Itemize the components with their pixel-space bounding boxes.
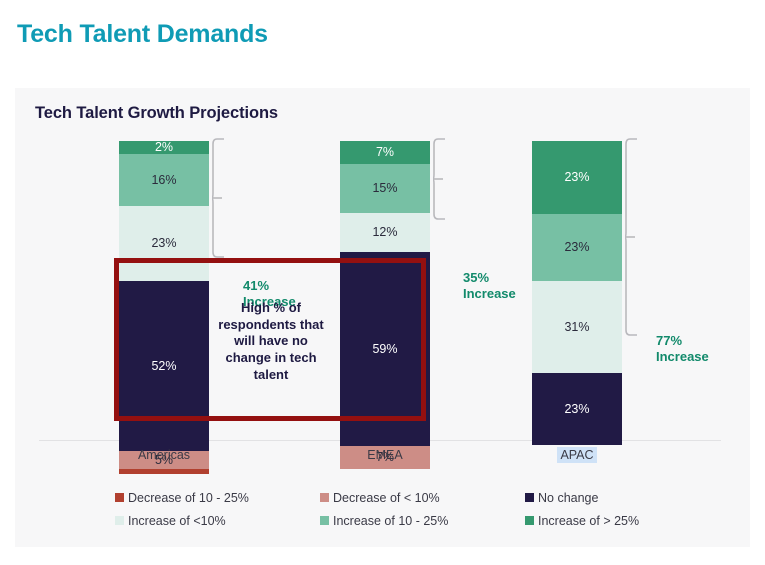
legend-label: Increase of > 25% <box>538 514 639 528</box>
annotation-apac: 77% Increase <box>656 333 709 365</box>
annotation-apac-value: 77% <box>656 333 682 348</box>
page-title: Tech Talent Demands <box>17 20 268 49</box>
bar-segment-label: 59% <box>372 343 397 356</box>
bar-segment-label: 31% <box>564 321 589 334</box>
legend-label: Increase of 10 - 25% <box>333 514 448 528</box>
annotation-apac-word: Increase <box>656 349 709 364</box>
bar-segment-label: 23% <box>564 171 589 184</box>
bar-segment-apac-no-change[interactable]: 23% <box>532 373 622 445</box>
bar-segment-label: 52% <box>151 360 176 373</box>
legend-swatch-icon <box>320 493 329 502</box>
bar-segment-americas-increase-lt-10[interactable]: 23% <box>119 206 209 281</box>
legend: Decrease of 10 - 25%Decrease of < 10%No … <box>115 486 675 532</box>
legend-swatch-icon <box>115 493 124 502</box>
legend-item[interactable]: Increase of 10 - 25% <box>320 514 525 528</box>
bar-segment-americas-decrease-10-25[interactable] <box>119 469 209 474</box>
legend-swatch-icon <box>320 516 329 525</box>
bar-segment-americas-increase-10-25[interactable]: 16% <box>119 154 209 206</box>
bar-segment-americas-increase-gt-25[interactable]: 2% <box>119 141 209 154</box>
bar-segment-label: 23% <box>564 241 589 254</box>
legend-item[interactable]: Decrease of 10 - 25% <box>115 491 320 505</box>
category-label-americas-text: Americas <box>138 448 190 462</box>
bar-segment-label: 12% <box>372 226 397 239</box>
callout-text: High % of respondents that will have no … <box>211 300 331 383</box>
bar-segment-label: 7% <box>376 146 394 159</box>
bar-segment-label: 23% <box>564 403 589 416</box>
bracket-emea <box>433 138 455 220</box>
annotation-americas-value: 41% <box>243 278 269 293</box>
chart-card: Tech Talent Growth Projections 2%16%23%5… <box>15 88 750 547</box>
plot-area: 2%16%23%52%5% 7%15%12%59%7% 23%23%31%23%… <box>15 88 750 547</box>
bar-segment-label: 2% <box>155 141 173 154</box>
legend-swatch-icon <box>525 493 534 502</box>
annotation-emea: 35% Increase <box>463 270 516 302</box>
legend-label: Decrease of < 10% <box>333 491 440 505</box>
legend-item[interactable]: Increase of <10% <box>115 514 320 528</box>
bar-segment-emea-increase-lt-10[interactable]: 12% <box>340 213 430 252</box>
annotation-emea-word: Increase <box>463 286 516 301</box>
legend-row: Increase of <10%Increase of 10 - 25%Incr… <box>115 509 675 532</box>
category-label-apac: APAC <box>497 448 657 462</box>
bar-segment-americas-no-change[interactable]: 52% <box>119 281 209 451</box>
annotation-emea-value: 35% <box>463 270 489 285</box>
bracket-apac <box>625 138 647 336</box>
bar-segment-emea-increase-gt-25[interactable]: 7% <box>340 141 430 164</box>
category-label-emea: EMEA <box>305 448 465 462</box>
legend-item[interactable]: Decrease of < 10% <box>320 491 525 505</box>
legend-swatch-icon <box>525 516 534 525</box>
legend-swatch-icon <box>115 516 124 525</box>
legend-label: Decrease of 10 - 25% <box>128 491 249 505</box>
bar-segment-label: 16% <box>151 174 176 187</box>
category-label-apac-text: APAC <box>557 447 596 463</box>
legend-item[interactable]: No change <box>525 491 675 505</box>
bar-segment-label: 23% <box>151 237 176 250</box>
bar-segment-apac-increase-gt-25[interactable]: 23% <box>532 141 622 214</box>
legend-label: No change <box>538 491 598 505</box>
bar-segment-emea-no-change[interactable]: 59% <box>340 252 430 446</box>
category-label-emea-text: EMEA <box>367 448 402 462</box>
category-label-americas: Americas <box>84 448 244 462</box>
bar-segment-emea-increase-10-25[interactable]: 15% <box>340 164 430 213</box>
legend-label: Increase of <10% <box>128 514 226 528</box>
legend-row: Decrease of 10 - 25%Decrease of < 10%No … <box>115 486 675 509</box>
legend-item[interactable]: Increase of > 25% <box>525 514 675 528</box>
bar-segment-label: 15% <box>372 182 397 195</box>
bar-segment-apac-increase-lt-10[interactable]: 31% <box>532 281 622 373</box>
bar-segment-apac-increase-10-25[interactable]: 23% <box>532 214 622 281</box>
bracket-americas <box>212 138 234 258</box>
